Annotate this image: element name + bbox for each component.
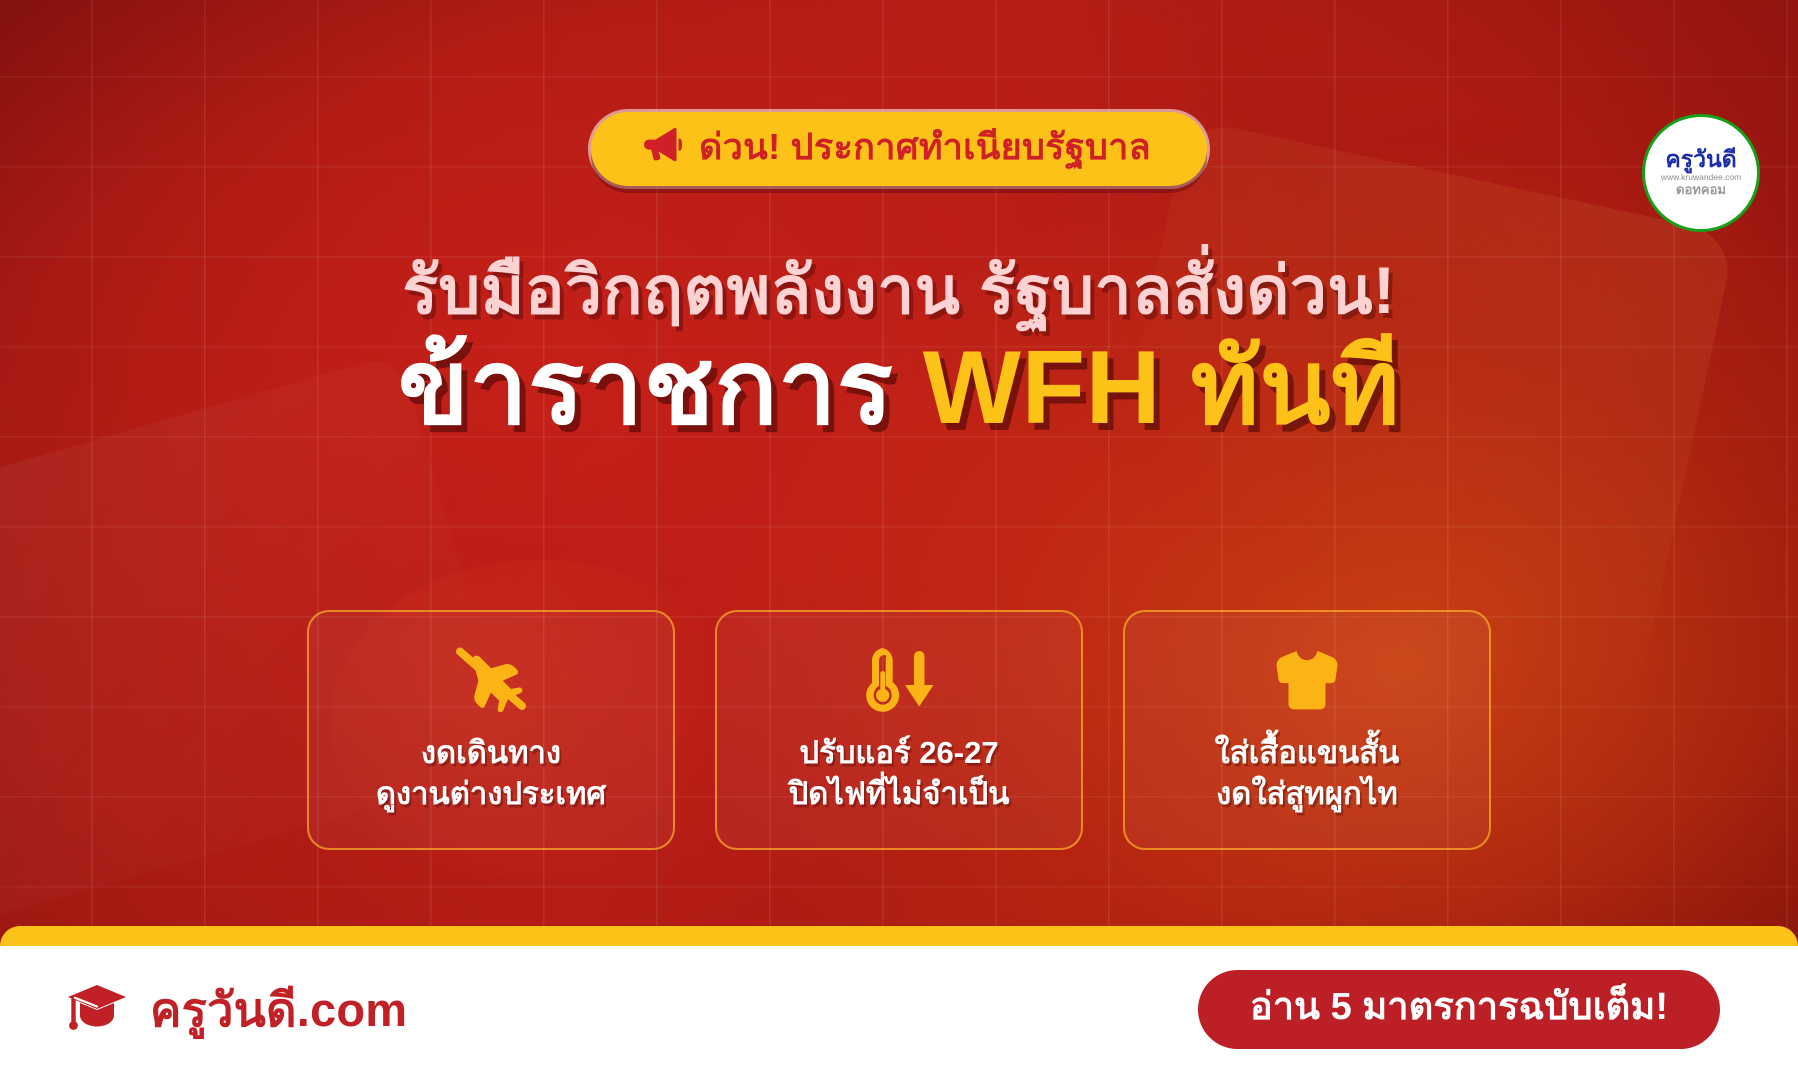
thermometer-down-icon [861,643,937,717]
headline-line-2-plain: ข้าราชการ [398,330,923,446]
measure-card-travel[interactable]: งดเดินทาง ดูงานต่างประเทศ [307,610,675,850]
measure-card-dresscode[interactable]: ใส่เสื้อแขนสั้น งดใส่สูทผูกไท [1123,610,1491,850]
headline-line-2-highlight: WFH ทันที [923,330,1400,446]
headline-line-2: ข้าราชการ WFH ทันที [0,330,1798,446]
site-logo-badge[interactable]: ครูวันดี www.kruwandee.com ดอทคอม [1642,114,1760,232]
footer-bar: ครูวันดี.com อ่าน 5 มาตรการฉบับเต็ม! [0,946,1798,1073]
measures-card-row: งดเดินทาง ดูงานต่างประเทศ ปรับแอร์ 26-27… [307,610,1491,850]
read-full-measures-button[interactable]: อ่าน 5 มาตรการฉบับเต็ม! [1198,970,1720,1050]
urgent-badge-label: ด่วน! ประกาศทำเนียบรัฐบาล [699,127,1151,167]
measure-card-aircon[interactable]: ปรับแอร์ 26-27 ปิดไฟที่ไม่จำเป็น [715,610,1083,850]
measure-card-line-2: ดูงานต่างประเทศ [376,774,606,815]
site-logo-suffix: ดอทคอม [1676,183,1726,197]
measure-card-line-2: ปิดไฟที่ไม่จำเป็น [789,774,1010,815]
measure-card-line-1: ใส่เสื้อแขนสั้น [1215,733,1400,774]
footer-brand[interactable]: ครูวันดี.com [66,982,407,1037]
measure-card-line-2: งดใส่สูทผูกไท [1216,774,1398,815]
footer-gold-divider [0,926,1798,946]
banner-root: ด่วน! ประกาศทำเนียบรัฐบาล ครูวันดี www.k… [0,0,1798,1073]
measure-card-line-1: ปรับแอร์ 26-27 [799,733,998,774]
megaphone-icon [643,127,683,166]
headline-block: รับมือวิกฤตพลังงาน รัฐบาลสั่งด่วน! ข้ารา… [0,253,1798,447]
headline-line-1: รับมือวิกฤตพลังงาน รัฐบาลสั่งด่วน! [0,253,1798,328]
graduation-cap-icon [66,982,128,1037]
site-logo-name: ครูวันดี [1665,148,1736,171]
measure-card-line-1: งดเดินทาง [421,733,561,774]
site-logo-url: www.kruwandee.com [1661,172,1741,182]
footer-brand-label: ครูวันดี.com [150,986,407,1033]
urgent-announcement-badge[interactable]: ด่วน! ประกาศทำเนียบรัฐบาล [591,112,1207,186]
plane-slash-icon [453,643,529,717]
tshirt-icon [1269,643,1345,717]
